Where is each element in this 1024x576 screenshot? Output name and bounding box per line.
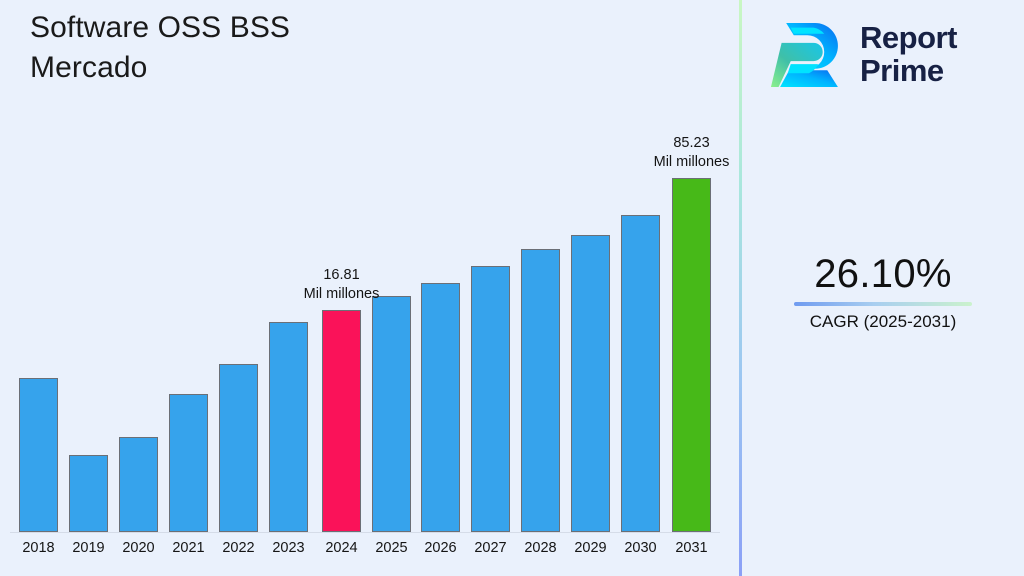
cagr-block: 26.10% CAGR (2025-2031) — [742, 252, 1024, 332]
bar-2027 — [471, 266, 510, 532]
x-tick-2018: 2018 — [11, 540, 66, 556]
x-axis-line — [10, 532, 720, 533]
screenshot-root: Software OSS BSS Mercado 16.81 Mil millo… — [0, 0, 1024, 576]
bar-chart-plot-area: 16.81 Mil millones85.23 Mil millones 201… — [0, 0, 740, 576]
x-tick-2028: 2028 — [513, 540, 568, 556]
chart-panel: Software OSS BSS Mercado 16.81 Mil millo… — [0, 0, 740, 576]
brand-wordmark: Report Prime — [860, 22, 957, 87]
cagr-value: 26.10% — [742, 252, 1024, 296]
cagr-caption: CAGR (2025-2031) — [742, 312, 1024, 332]
bar-2024 — [322, 310, 361, 532]
x-tick-2026: 2026 — [413, 540, 468, 556]
x-tick-2024: 2024 — [314, 540, 369, 556]
x-tick-2031: 2031 — [664, 540, 719, 556]
bar-2018 — [19, 378, 58, 532]
bar-2029 — [571, 235, 610, 532]
bar-2030 — [621, 215, 660, 532]
x-tick-2029: 2029 — [563, 540, 618, 556]
report-prime-logo-mark-icon — [770, 20, 848, 90]
bar-2028 — [521, 249, 560, 532]
brand-logo: Report Prime — [770, 14, 1010, 96]
x-tick-2025: 2025 — [364, 540, 419, 556]
x-tick-2022: 2022 — [211, 540, 266, 556]
bar-2031 — [672, 178, 711, 532]
cagr-divider-rule — [794, 302, 972, 306]
bar-2022 — [219, 364, 258, 532]
x-tick-2023: 2023 — [261, 540, 316, 556]
x-tick-2027: 2027 — [463, 540, 518, 556]
x-tick-2030: 2030 — [613, 540, 668, 556]
bar-2020 — [119, 437, 158, 532]
side-panel: Report Prime 26.10% CAGR (2025-2031) — [742, 0, 1024, 576]
x-tick-2019: 2019 — [61, 540, 116, 556]
bar-2026 — [421, 283, 460, 532]
x-tick-2021: 2021 — [161, 540, 216, 556]
bar-2025 — [372, 296, 411, 532]
bar-2023 — [269, 322, 308, 532]
x-tick-2020: 2020 — [111, 540, 166, 556]
bar-2021 — [169, 394, 208, 532]
bar-2019 — [69, 455, 108, 532]
